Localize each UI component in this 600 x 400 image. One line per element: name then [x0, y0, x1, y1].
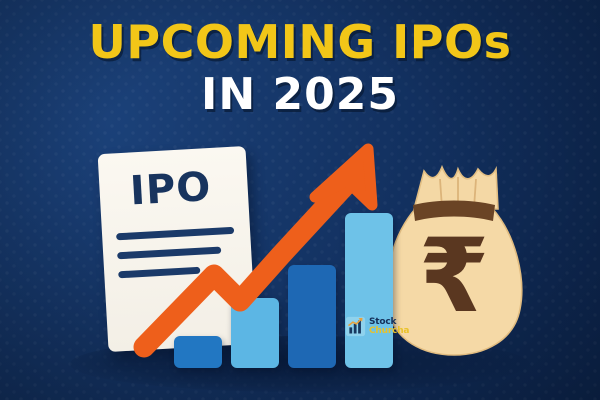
ipo-poster: UPCOMING IPOs IN 2025 IPO ₹: [0, 0, 600, 400]
headline-block: UPCOMING IPOs IN 2025: [0, 18, 600, 118]
headline-line-1: UPCOMING IPOs: [0, 18, 600, 66]
headline-line-2: IN 2025: [0, 72, 600, 118]
brand-logo-wordmark: Stock Churcha: [369, 318, 409, 336]
brand-logo-bottom-word: Churcha: [369, 327, 409, 336]
growth-chart-icon: [345, 316, 366, 337]
rupee-symbol: ₹: [419, 217, 490, 336]
brand-logo: Stock Churcha: [345, 316, 409, 337]
